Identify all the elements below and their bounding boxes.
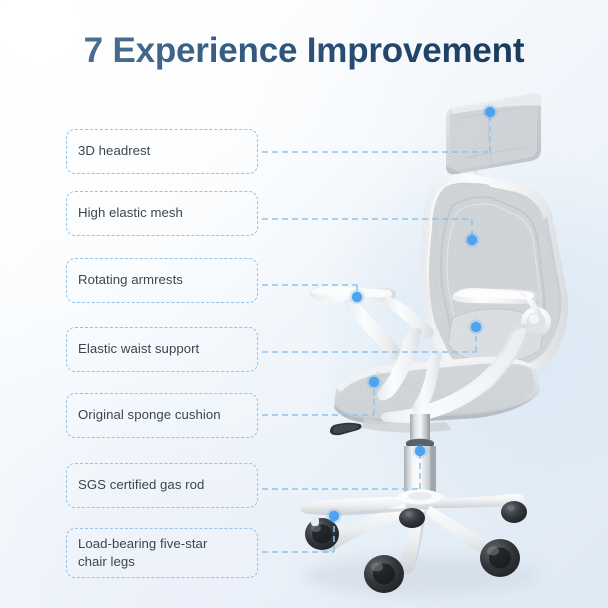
- connector-cushion: [262, 375, 382, 416]
- feature-label-text: Original sponge cushion: [78, 406, 221, 424]
- feature-label-waist[interactable]: Elastic waist support: [66, 327, 258, 372]
- feature-label-text: High elastic mesh: [78, 204, 183, 222]
- connector-armrests: [262, 285, 365, 305]
- feature-label-headrest[interactable]: 3D headrest: [66, 129, 258, 174]
- connector-gasrod: [262, 444, 428, 490]
- callout-dot-gasrod[interactable]: [415, 446, 425, 456]
- callout-dot-armrests[interactable]: [352, 292, 362, 302]
- feature-label-mesh[interactable]: High elastic mesh: [66, 191, 258, 236]
- feature-label-cushion[interactable]: Original sponge cushion: [66, 393, 258, 438]
- connector-headrest: [262, 105, 498, 153]
- feature-label-text: SGS certified gas rod: [78, 476, 204, 494]
- infographic-canvas: 7 Experience Improvement 3D headrestHigh…: [0, 0, 608, 608]
- callout-dot-headrest[interactable]: [485, 107, 495, 117]
- connector-lines: [0, 0, 608, 608]
- connector-legs: [262, 509, 342, 553]
- feature-label-gasrod[interactable]: SGS certified gas rod: [66, 463, 258, 508]
- feature-label-text: Rotating armrests: [78, 271, 183, 289]
- connector-mesh: [262, 219, 480, 248]
- feature-label-legs[interactable]: Load-bearing five-starchair legs: [66, 528, 258, 578]
- callout-dot-waist[interactable]: [471, 322, 481, 332]
- feature-label-text: Elastic waist support: [78, 340, 199, 358]
- callout-dot-mesh[interactable]: [467, 235, 477, 245]
- callout-dot-cushion[interactable]: [369, 377, 379, 387]
- feature-label-armrests[interactable]: Rotating armrests: [66, 258, 258, 303]
- connector-waist: [262, 320, 484, 353]
- feature-label-text: 3D headrest: [78, 142, 150, 160]
- callout-dot-legs[interactable]: [329, 511, 339, 521]
- feature-label-text: Load-bearing five-starchair legs: [78, 535, 207, 571]
